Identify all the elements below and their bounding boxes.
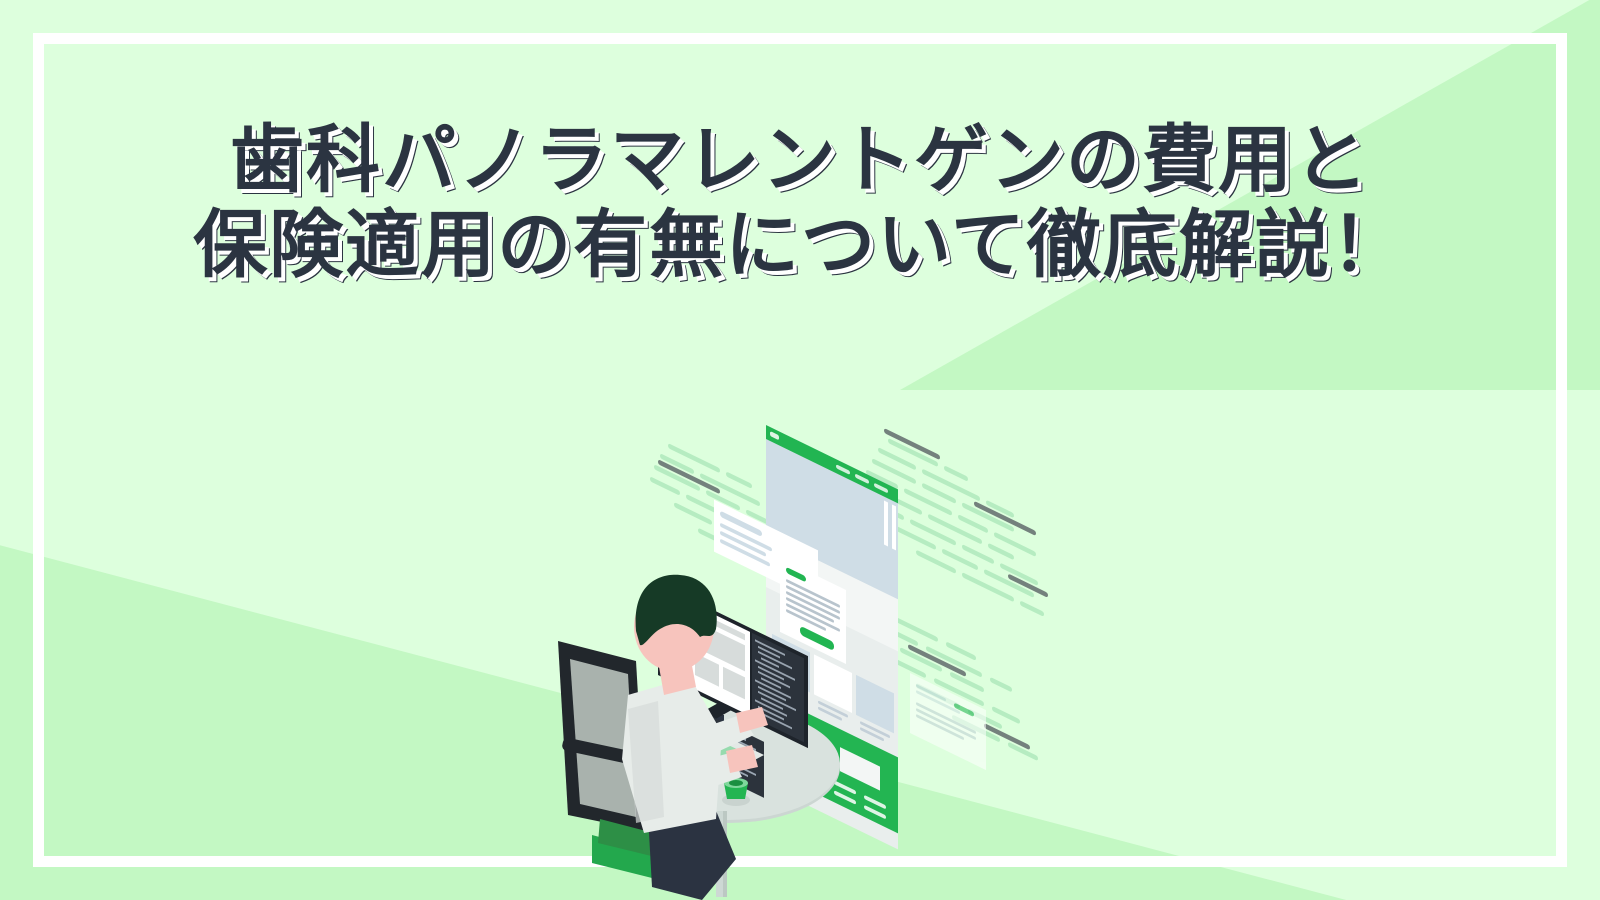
page-title: 歯科パノラマレントゲンの費用と 保険適用の有無について徹底解説！ bbox=[0, 118, 1600, 288]
poster-canvas: 歯科パノラマレントゲンの費用と 保険適用の有無について徹底解説！ bbox=[0, 0, 1600, 900]
title-line-1: 歯科パノラマレントゲンの費用と bbox=[0, 118, 1600, 203]
hero-illustration bbox=[540, 415, 1060, 900]
title-line-2: 保険適用の有無について徹底解説！ bbox=[0, 203, 1600, 288]
